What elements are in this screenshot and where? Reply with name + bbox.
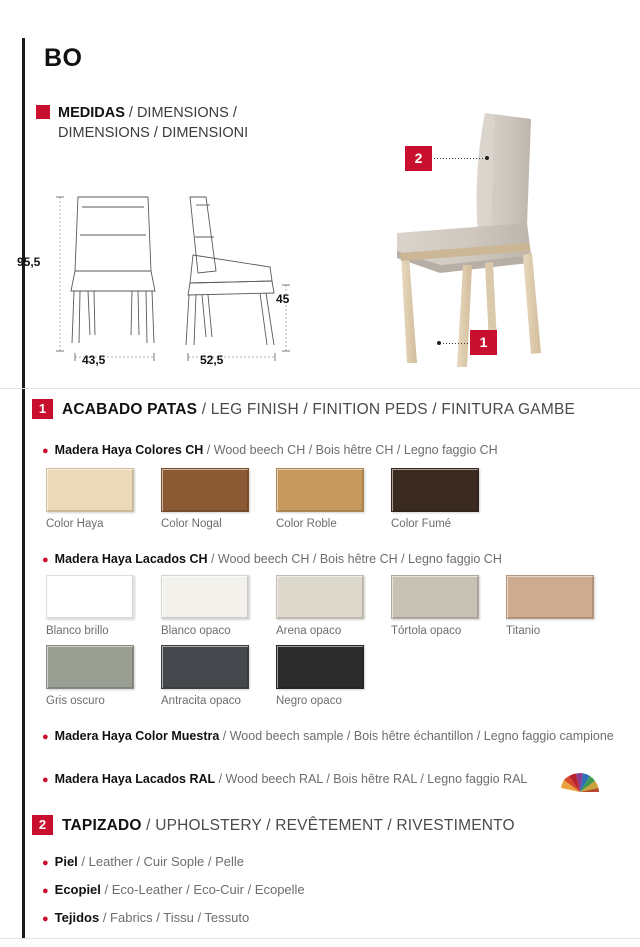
dimensions-header: MEDIDAS / DIMENSIONS / DIMENSIONS / DIME… — [36, 103, 336, 143]
upholstery-item-piel: ●Piel / Leather / Cuir Sople / Pelle — [42, 854, 244, 869]
callout-leader-leg — [440, 343, 470, 344]
upholstery-rest-ecopiel: / Eco-Leather / Eco-Cuir / Ecopelle — [101, 882, 305, 897]
swatch-negro-opaco[interactable]: Negro opaco — [276, 645, 391, 707]
swatch-label: Negro opaco — [276, 695, 391, 707]
section-number-1: 1 — [32, 399, 53, 419]
bullet-dot-icon: ● — [42, 885, 49, 897]
swatch-label: Titanio — [506, 625, 621, 637]
swatch-antracita-opaco[interactable]: Antracita opaco — [161, 645, 276, 707]
swatch-label: Color Haya — [46, 518, 161, 530]
section-title-bold-upholstery: TAPIZADO — [62, 817, 142, 834]
bullet-dot-icon: ● — [42, 857, 49, 869]
swatch-color-nogal[interactable]: Color Nogal — [161, 468, 276, 530]
dimensions-label-bold: MEDIDAS — [58, 105, 125, 121]
section-number-2: 2 — [32, 815, 53, 835]
swatch-label: Gris oscuro — [46, 695, 161, 707]
swatch-chip — [276, 575, 364, 619]
dimensions-label-line2: DIMENSIONS / DIMENSIONI — [58, 123, 336, 143]
bullet-bold-ral: Madera Haya Lacados RAL — [55, 772, 215, 786]
dimension-seat-height-label: 45 — [276, 292, 289, 306]
swatch-chip — [276, 645, 364, 689]
bullet-bold-lacados: Madera Haya Lacados CH — [55, 552, 208, 566]
callout-badge-upholstery: 2 — [405, 146, 432, 171]
swatch-row-wood-colors: Color Haya Color Nogal Color Roble Color… — [46, 468, 506, 530]
upholstery-rest-tejidos: / Fabrics / Tissu / Tessuto — [99, 910, 249, 925]
red-square-bullet-icon — [36, 105, 50, 119]
swatch-label: Blanco opaco — [161, 625, 276, 637]
bullet-rest-muestra: / Wood beech sample / Bois hêtre échanti… — [219, 729, 613, 743]
swatch-titanio[interactable]: Titanio — [506, 575, 621, 637]
swatch-chip — [46, 645, 134, 689]
swatch-gris-oscuro[interactable]: Gris oscuro — [46, 645, 161, 707]
swatch-row-lacquer-1: Blanco brillo Blanco opaco Arena opaco T… — [46, 575, 621, 637]
bullet-dot-icon: ● — [42, 554, 49, 566]
upholstery-bold-piel: Piel — [55, 854, 78, 869]
dimension-depth-label: 52,5 — [200, 353, 223, 367]
upholstery-bold-tejidos: Tejidos — [55, 910, 100, 925]
swatch-chip — [46, 468, 134, 512]
upholstery-rest-piel: / Leather / Cuir Sople / Pelle — [78, 854, 244, 869]
dimension-height-label: 95,5 — [17, 255, 40, 269]
callout-dot-back — [485, 156, 489, 160]
bullet-dot-icon: ● — [42, 774, 49, 786]
bullet-dot-icon: ● — [42, 445, 49, 457]
swatch-label: Color Nogal — [161, 518, 276, 530]
section-header-upholstery: 2TAPIZADO / UPHOLSTERY / REVÊTEMENT / RI… — [32, 815, 515, 835]
swatch-tortola-opaco[interactable]: Tórtola opaco — [391, 575, 506, 637]
upholstery-item-ecopiel: ●Ecopiel / Eco-Leather / Eco-Cuir / Ecop… — [42, 882, 305, 897]
swatch-blanco-opaco[interactable]: Blanco opaco — [161, 575, 276, 637]
callout-leader-back — [434, 158, 486, 159]
swatch-color-haya[interactable]: Color Haya — [46, 468, 161, 530]
bullet-rest-ral: / Wood beech RAL / Bois hêtre RAL / Legn… — [215, 772, 527, 786]
bullet-dot-icon: ● — [42, 913, 49, 925]
swatch-label: Tórtola opaco — [391, 625, 506, 637]
callout-dot-leg — [437, 341, 441, 345]
technical-drawing — [30, 185, 330, 375]
swatch-label: Blanco brillo — [46, 625, 161, 637]
bullet-madera-lacados: ●Madera Haya Lacados CH / Wood beech CH … — [42, 552, 502, 566]
swatch-chip — [391, 468, 479, 512]
dimension-width-label: 43,5 — [82, 353, 105, 367]
bullet-rest-lacados: / Wood beech CH / Bois hêtre CH / Legno … — [208, 552, 502, 566]
swatch-chip — [161, 575, 249, 619]
swatch-chip — [161, 468, 249, 512]
swatch-chip — [391, 575, 479, 619]
section-separator-bottom — [0, 938, 640, 939]
swatch-chip — [506, 575, 594, 619]
bullet-dot-icon: ● — [42, 731, 49, 743]
bullet-lacados-ral: ●Madera Haya Lacados RAL / Wood beech RA… — [42, 772, 527, 786]
swatch-chip — [276, 468, 364, 512]
swatch-arena-opaco[interactable]: Arena opaco — [276, 575, 391, 637]
swatch-label: Color Fumé — [391, 518, 506, 530]
bullet-bold-muestra: Madera Haya Color Muestra — [55, 729, 220, 743]
upholstery-bold-ecopiel: Ecopiel — [55, 882, 101, 897]
bullet-madera-colores: ●Madera Haya Colores CH / Wood beech CH … — [42, 443, 498, 457]
swatch-row-lacquer-2: Gris oscuro Antracita opaco Negro opaco — [46, 645, 391, 707]
section-title-rest-upholstery: / UPHOLSTERY / REVÊTEMENT / RIVESTIMENTO — [142, 817, 515, 834]
upholstery-item-tejidos: ●Tejidos / Fabrics / Tissu / Tessuto — [42, 910, 249, 925]
bullet-rest-colores: / Wood beech CH / Bois hêtre CH / Legno … — [203, 443, 497, 457]
swatch-label: Antracita opaco — [161, 695, 276, 707]
bullet-bold-colores: Madera Haya Colores CH — [55, 443, 204, 457]
swatch-chip — [46, 575, 134, 619]
swatch-label: Color Roble — [276, 518, 391, 530]
section-title-rest-legs: / LEG FINISH / FINITION PEDS / FINITURA … — [197, 401, 575, 418]
swatch-chip — [161, 645, 249, 689]
swatch-blanco-brillo[interactable]: Blanco brillo — [46, 575, 161, 637]
color-fan-icon — [560, 762, 600, 798]
swatch-label: Arena opaco — [276, 625, 391, 637]
section-separator-top — [0, 388, 640, 389]
callout-badge-legs: 1 — [470, 330, 497, 355]
section-header-leg-finish: 1ACABADO PATAS / LEG FINISH / FINITION P… — [32, 399, 575, 419]
swatch-color-roble[interactable]: Color Roble — [276, 468, 391, 530]
left-vertical-rule — [22, 38, 25, 938]
spec-sheet-page: BO MEDIDAS / DIMENSIONS / DIMENSIONS / D… — [0, 0, 640, 947]
bullet-color-muestra: ●Madera Haya Color Muestra / Wood beech … — [42, 729, 614, 743]
page-title: BO — [44, 44, 83, 73]
dimensions-label-rest: / DIMENSIONS / — [125, 105, 237, 121]
swatch-color-fume[interactable]: Color Fumé — [391, 468, 506, 530]
section-title-bold-legs: ACABADO PATAS — [62, 401, 197, 418]
